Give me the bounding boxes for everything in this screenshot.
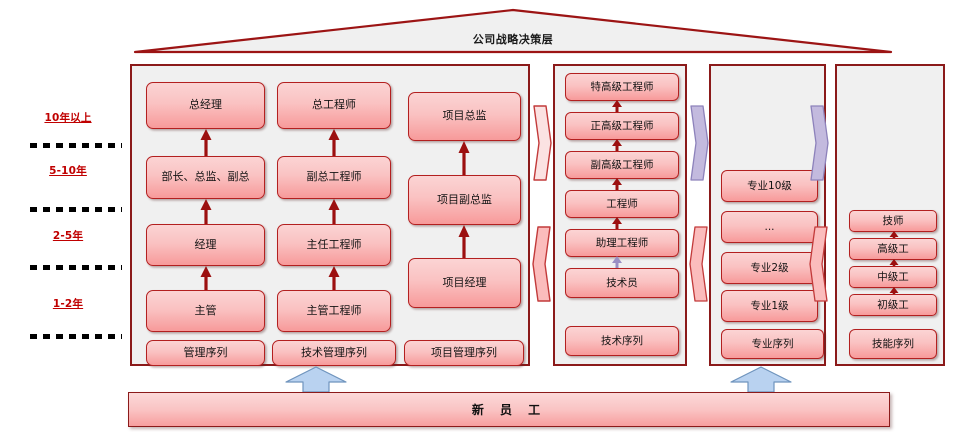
promotion-arrow xyxy=(200,199,212,225)
role-box-technician-master[interactable]: 技师 xyxy=(849,210,937,232)
sequence-footer-technical-management[interactable]: 技术管理序列 xyxy=(272,340,396,366)
sequence-footer-management[interactable]: 管理序列 xyxy=(146,340,265,366)
role-box-assistant-engineer[interactable]: 助理工程师 xyxy=(565,229,679,257)
role-box-project-deputy-director[interactable]: 项目副总监 xyxy=(408,175,521,225)
role-box-project-director[interactable]: 项目总监 xyxy=(408,92,521,141)
sequence-footer-technical[interactable]: 技术序列 xyxy=(565,326,679,356)
role-box-professional-ellipsis[interactable]: ... xyxy=(721,211,818,243)
promotion-arrow xyxy=(200,266,212,292)
role-box-engineer[interactable]: 工程师 xyxy=(565,190,679,218)
sequence-footer-project-management[interactable]: 项目管理序列 xyxy=(404,340,524,366)
promotion-arrow xyxy=(328,199,340,225)
role-box-manager[interactable]: 经理 xyxy=(146,224,265,266)
role-box-supervisor[interactable]: 主管 xyxy=(146,290,265,332)
promotion-arrow xyxy=(458,225,470,260)
transfer-chevron-right-upper xyxy=(532,104,552,182)
role-box-junior-worker[interactable]: 初级工 xyxy=(849,294,937,316)
promotion-arrow xyxy=(200,129,212,157)
year-divider-3 xyxy=(30,334,122,339)
year-divider-2 xyxy=(30,265,122,270)
sequence-footer-professional[interactable]: 专业序列 xyxy=(721,329,824,359)
promotion-arrow xyxy=(328,129,340,157)
transfer-chevron-purple-upper xyxy=(689,104,709,182)
sequence-footer-skill[interactable]: 技能序列 xyxy=(849,329,937,359)
role-box-professional-level-10[interactable]: 专业10级 xyxy=(721,170,818,202)
skill-panel: 技师 高级工 中级工 初级工 技能序列 xyxy=(835,64,945,366)
year-band-label-0: 10年以上 xyxy=(22,110,114,125)
role-box-professional-level-1[interactable]: 专业1级 xyxy=(721,290,818,322)
transfer-chevron-left-lower xyxy=(809,225,829,303)
role-box-intermediate-worker[interactable]: 中级工 xyxy=(849,266,937,288)
role-box-professional-level-2[interactable]: 专业2级 xyxy=(721,252,818,284)
entry-arrow-right xyxy=(730,366,792,394)
role-box-technician[interactable]: 技术员 xyxy=(565,268,679,298)
management-panel: 总经理 部长、总监、副总 经理 主管 管理序列 总工程师 副总工程师 主任工程师… xyxy=(130,64,530,366)
technical-panel: 特高级工程师 正高级工程师 副高级工程师 工程师 助理工程师 技术员 技术序列 xyxy=(553,64,687,366)
entry-arrow-left xyxy=(285,366,347,394)
role-box-director-engineer[interactable]: 主任工程师 xyxy=(277,224,391,266)
role-box-director-vp[interactable]: 部长、总监、副总 xyxy=(146,156,265,199)
year-band-label-2: 2-5年 xyxy=(22,228,114,243)
role-box-supervising-engineer[interactable]: 主管工程师 xyxy=(277,290,391,332)
transfer-chevron-purple-upper xyxy=(809,104,829,182)
transfer-chevron-left-lower xyxy=(689,225,709,303)
year-band-label-1: 5-10年 xyxy=(22,163,114,178)
transfer-chevron-left-lower xyxy=(532,225,552,303)
role-box-associate-senior-engineer[interactable]: 副高级工程师 xyxy=(565,151,679,179)
year-divider-1 xyxy=(30,207,122,212)
new-employee-bar[interactable]: 新 员 工 xyxy=(128,392,890,427)
role-box-senior-worker[interactable]: 高级工 xyxy=(849,238,937,260)
role-box-project-manager[interactable]: 项目经理 xyxy=(408,258,521,308)
role-box-general-manager[interactable]: 总经理 xyxy=(146,82,265,129)
promotion-arrow xyxy=(458,141,470,176)
role-box-full-senior-engineer[interactable]: 正高级工程师 xyxy=(565,112,679,140)
year-divider-0 xyxy=(30,143,122,148)
promotion-arrow xyxy=(328,266,340,292)
role-box-deputy-chief-engineer[interactable]: 副总工程师 xyxy=(277,156,391,199)
role-box-distinguished-senior-engineer[interactable]: 特高级工程师 xyxy=(565,73,679,101)
year-band-label-3: 1-2年 xyxy=(22,296,114,311)
roof-title: 公司战略决策层 xyxy=(133,30,893,50)
role-box-chief-engineer[interactable]: 总工程师 xyxy=(277,82,391,129)
